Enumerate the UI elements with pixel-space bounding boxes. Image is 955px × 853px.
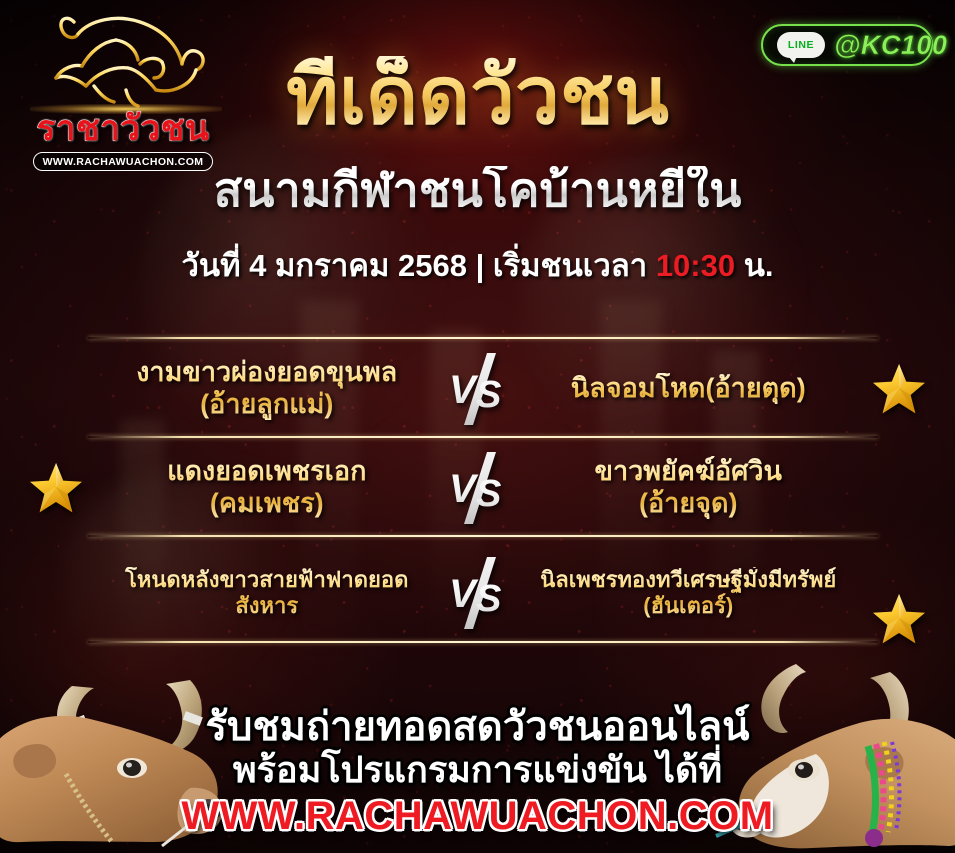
svg-text:S: S [476, 578, 501, 620]
footer-block: รับชมถ่ายทอดสดวัวชนออนไลน์ พร้อมโปรแกรมก… [0, 705, 955, 839]
divider-line [88, 436, 878, 438]
poster-canvas: ราชาวัวชน WWW.RACHAWUACHON.COM LINE @KC1… [0, 0, 955, 853]
vs-icon: V S [442, 554, 514, 632]
right-bull-name: นิลจอมโหด(อ้ายตุด) [520, 373, 858, 405]
date-prefix: วันที่ 4 มกราคม 2568 | เริ่มชนเวลา [181, 248, 655, 283]
left-bull-name: แดงยอดเพชรเอก [98, 456, 436, 488]
footer-website-url[interactable]: WWW.RACHAWUACHON.COM [0, 794, 955, 839]
svg-text:V: V [449, 368, 479, 412]
footer-line-2: พร้อมโปรแกรมการแข่งขัน ได้ที่ [0, 750, 955, 790]
star-slot-right [863, 362, 935, 416]
match-left-name: แดงยอดเพชรเอก (คมเพชร) [92, 456, 442, 520]
start-time: 10:30 [656, 248, 735, 283]
star-icon [28, 461, 84, 515]
svg-text:V: V [449, 572, 479, 616]
left-bull-name: โหนดหลังขาวสายฟ้าฟาดยอดสังหาร [98, 567, 436, 619]
divider-line [88, 535, 878, 537]
star-icon [871, 362, 927, 416]
right-bull-owner: (ฮันเตอร์) [520, 593, 858, 619]
match-right-name: นิลเพชรทองทวีเศรษฐีมั่งมีทรัพย์ (ฮันเตอร… [514, 567, 864, 619]
svg-text:S: S [476, 473, 501, 515]
footer-line-1: รับชมถ่ายทอดสดวัวชนออนไลน์ [0, 705, 955, 750]
venue-name: สนามกีฬาชนโคบ้านหยีใน [0, 166, 955, 213]
match-right-name: ขาวพยัคฆ์อัศวิน (อ้ายจุด) [514, 456, 864, 520]
vs-icon: V S [442, 449, 514, 527]
match-right-name: นิลจอมโหด(อ้ายตุด) [514, 373, 864, 405]
svg-text:V: V [449, 467, 479, 511]
svg-text:S: S [476, 374, 501, 416]
match-left-name: โหนดหลังขาวสายฟ้าฟาดยอดสังหาร [92, 567, 442, 619]
left-bull-owner: (คมเพชร) [98, 488, 436, 520]
date-suffix: น. [735, 248, 773, 283]
divider-line [88, 337, 878, 339]
right-bull-owner: (อ้ายจุด) [520, 488, 858, 520]
vs-icon: V S [442, 350, 514, 428]
match-row: แดงยอดเพชรเอก (คมเพชร) V S ขาวพยัคฆ์อัศว… [20, 440, 935, 535]
match-left-name: งามขาวผ่องยอดขุนพล (อ้ายลูกแม่) [92, 357, 442, 421]
match-row: งามขาวผ่องยอดขุนพล (อ้ายลูกแม่) V S นิลจ… [20, 341, 935, 436]
star-slot-left [20, 461, 92, 515]
left-bull-name: งามขาวผ่องยอดขุนพล [98, 357, 436, 389]
line-icon: LINE [777, 32, 825, 58]
right-bull-name: นิลเพชรทองทวีเศรษฐีมั่งมีทรัพย์ [520, 567, 858, 593]
right-bull-name: ขาวพยัคฆ์อัศวิน [520, 456, 858, 488]
match-row: โหนดหลังขาวสายฟ้าฟาดยอดสังหาร V S นิลเพช… [20, 545, 935, 640]
line-icon-label: LINE [788, 39, 814, 51]
page-title: ทีเด็ดวัวชน [0, 56, 955, 136]
left-bull-owner: (อ้ายลูกแม่) [98, 389, 436, 421]
event-datetime: วันที่ 4 มกราคม 2568 | เริ่มชนเวลา 10:30… [0, 250, 955, 281]
